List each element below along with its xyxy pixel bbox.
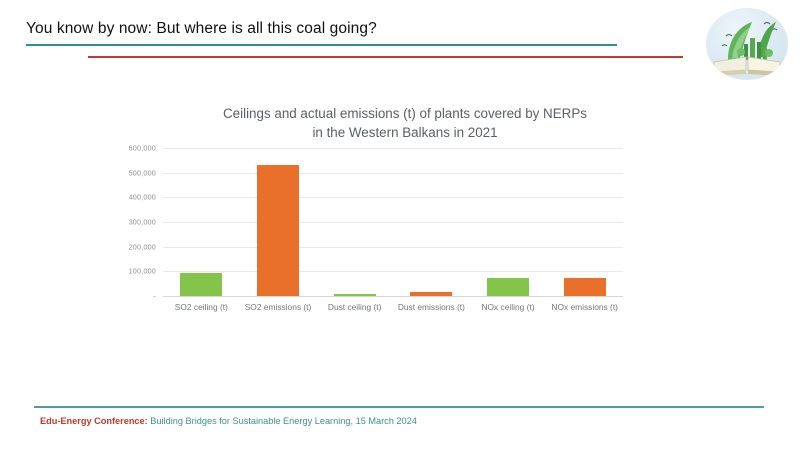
- chart-y-tick-label: -: [153, 292, 156, 301]
- chart-y-tick-label: 300,000: [129, 218, 156, 227]
- chart-bar-slot: [470, 148, 547, 296]
- chart-bar-slot: [240, 148, 317, 296]
- chart-x-tick-label: SO2 emissions (t): [240, 302, 317, 314]
- chart-bar-slot: [316, 148, 393, 296]
- chart-x-tick-label: SO2 ceiling (t): [163, 302, 240, 314]
- footer-conference-label: Edu-Energy Conference:: [40, 416, 148, 426]
- chart-y-tick-label: 400,000: [129, 193, 156, 202]
- footer-text: Edu-Energy Conference: Building Bridges …: [40, 416, 417, 426]
- chart-bar: [257, 165, 299, 296]
- chart-bar-slot: [393, 148, 470, 296]
- chart-x-tick-label: Dust ceiling (t): [316, 302, 393, 314]
- chart-bars: [163, 148, 623, 296]
- chart-x-axis-labels: SO2 ceiling (t)SO2 emissions (t)Dust cei…: [163, 302, 623, 314]
- chart-title-line-1: Ceilings and actual emissions (t) of pla…: [10, 104, 800, 123]
- chart-bar: [564, 278, 606, 297]
- chart-bar: [410, 292, 452, 296]
- footer-divider: [34, 406, 764, 408]
- chart-bar: [180, 273, 222, 296]
- chart-axis-baseline: -: [163, 296, 623, 297]
- slide-header: You know by now: But where is all this c…: [0, 0, 800, 80]
- chart-title: Ceilings and actual emissions (t) of pla…: [0, 104, 800, 142]
- chart-x-tick-label: Dust emissions (t): [393, 302, 470, 314]
- chart-title-line-2: in the Western Balkans in 2021: [10, 123, 800, 142]
- chart-plot-area: 600,000500,000400,000300,000200,000100,0…: [163, 148, 623, 296]
- emissions-bar-chart: Ceilings and actual emissions (t) of pla…: [0, 104, 800, 359]
- chart-y-tick-label: 500,000: [129, 168, 156, 177]
- chart-bar: [487, 278, 529, 296]
- chart-x-tick-label: NOx emissions (t): [546, 302, 623, 314]
- header-divider-teal: [26, 44, 617, 46]
- chart-bar: [334, 294, 376, 296]
- chart-bar-slot: [546, 148, 623, 296]
- page-title: You know by now: But where is all this c…: [26, 20, 377, 38]
- chart-x-tick-label: NOx ceiling (t): [470, 302, 547, 314]
- header-divider-red: [88, 56, 683, 58]
- chart-y-tick-label: 600,000: [129, 144, 156, 153]
- chart-y-tick-label: 200,000: [129, 242, 156, 251]
- chart-y-tick-label: 100,000: [129, 267, 156, 276]
- chart-bar-slot: [163, 148, 240, 296]
- footer-subtitle: Building Bridges for Sustainable Energy …: [148, 416, 417, 426]
- book-with-plants-logo-icon: [706, 8, 788, 80]
